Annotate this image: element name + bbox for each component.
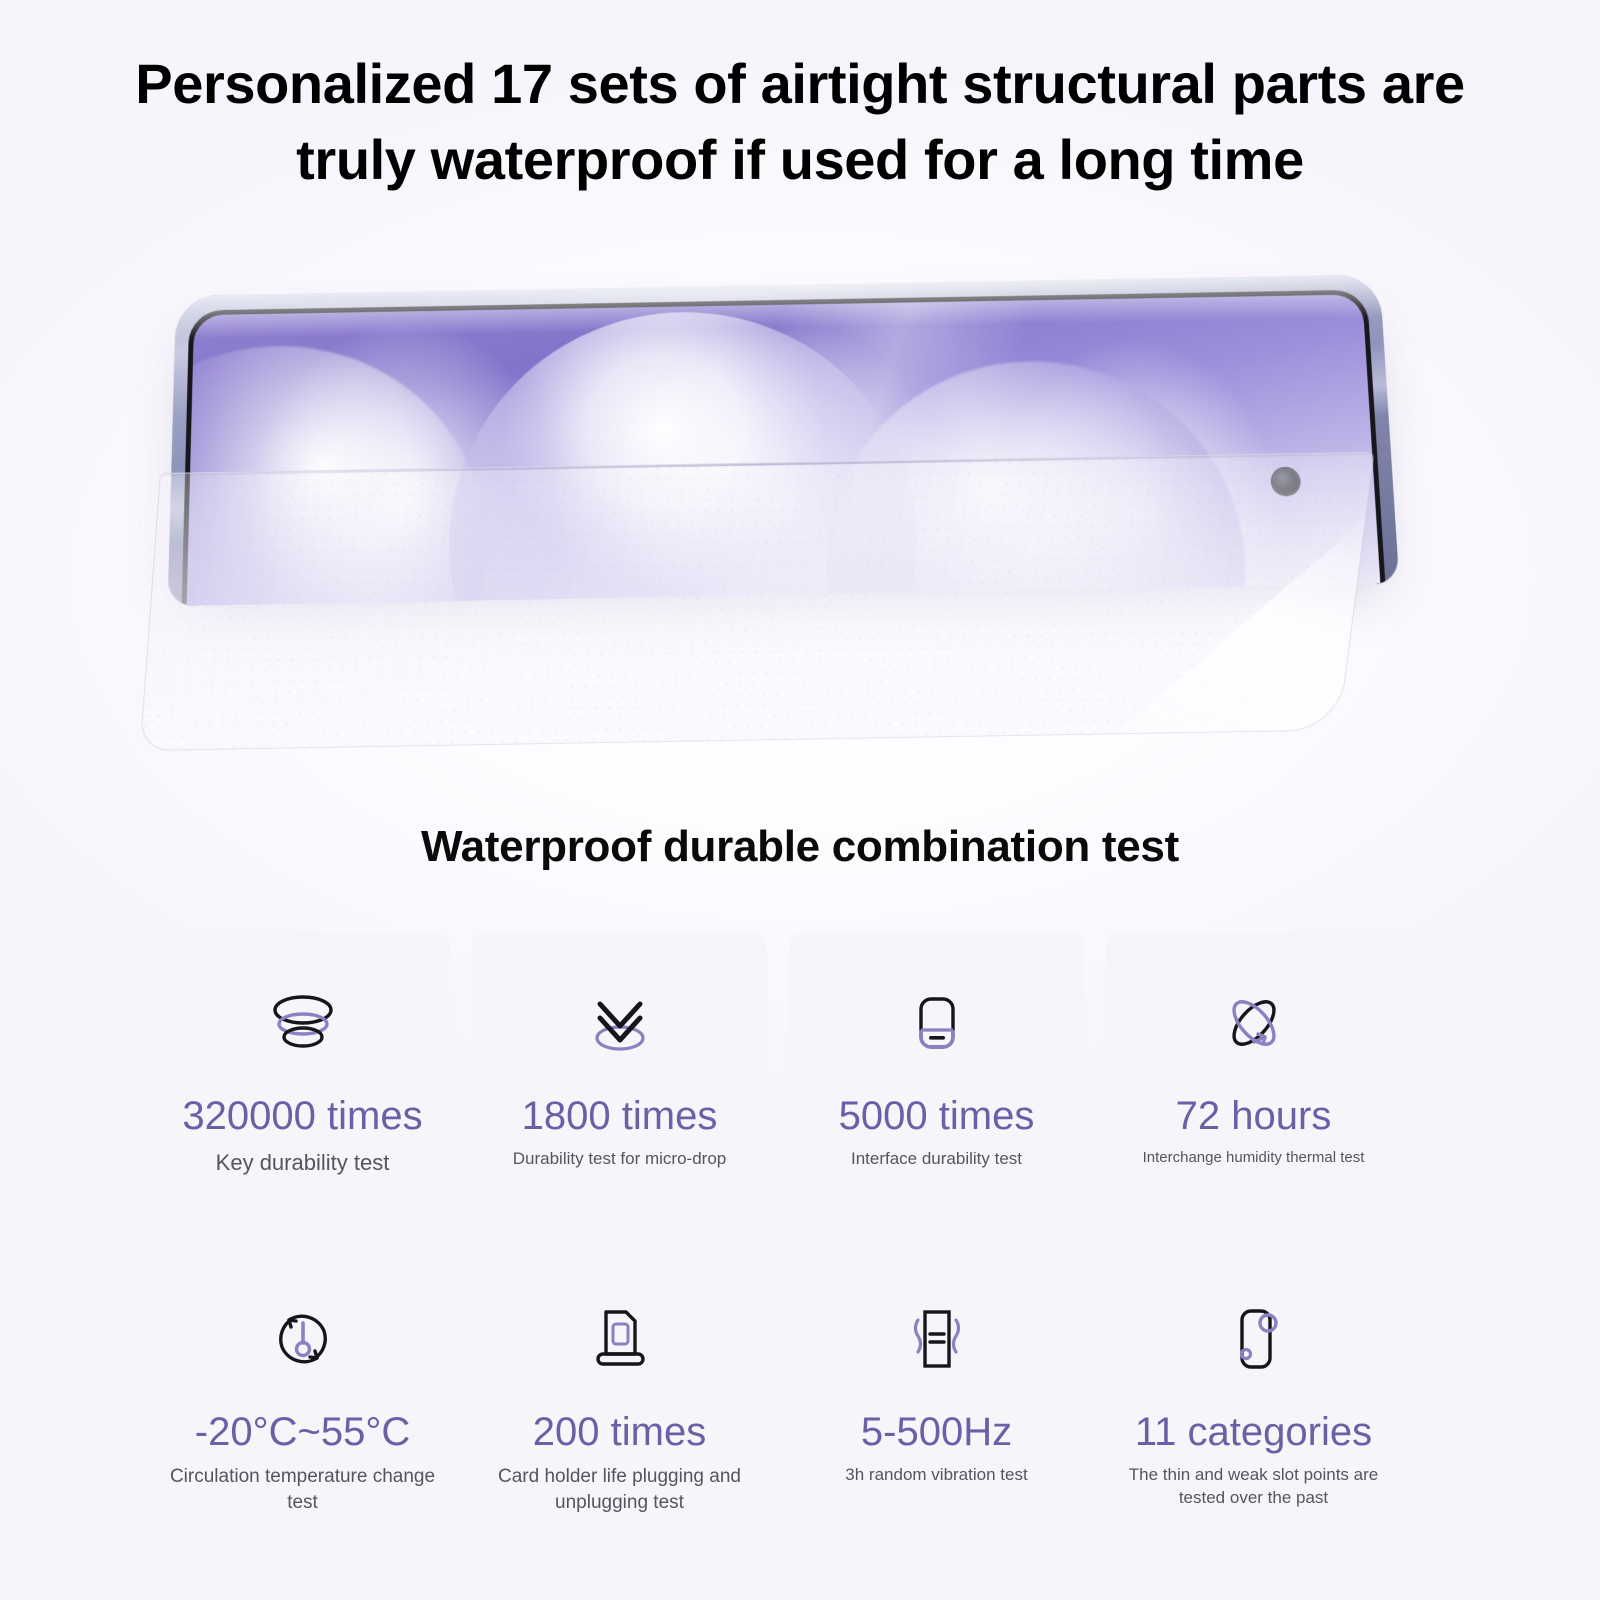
test-spec-grid: 320000 times Key durability test 1800 ti…: [155, 932, 1411, 1544]
spec-value: -20°C~55°C: [195, 1412, 410, 1452]
spec-caption: Card holder life plugging and unplugging…: [480, 1464, 760, 1515]
spec-card-humidity-thermal: 72 hours Interchange humidity thermal te…: [1106, 932, 1401, 1228]
phone-slot-points-icon: [1218, 1304, 1290, 1374]
spec-card-vibration: 5-500Hz 3h random vibration test: [789, 1248, 1084, 1544]
sim-card-tray-icon: [584, 1304, 656, 1374]
stacked-ellipses-key-press-icon: [267, 988, 339, 1058]
page-title-line-1: Personalized 17 sets of airtight structu…: [70, 46, 1530, 122]
spec-caption: Interchange humidity thermal test: [1141, 1148, 1367, 1168]
spec-caption: Key durability test: [214, 1148, 392, 1178]
spec-value: 72 hours: [1176, 1096, 1332, 1136]
spec-caption: 3h random vibration test: [843, 1464, 1029, 1487]
spec-card-card-holder: 200 times Card holder life plugging and …: [472, 1248, 767, 1544]
screen-protector-film: [140, 452, 1375, 751]
spec-value: 200 times: [533, 1412, 706, 1452]
page-title-line-2: truly waterproof if used for a long time: [70, 122, 1530, 198]
double-chevron-drop-icon: [584, 988, 656, 1058]
usb-c-port-icon: [901, 988, 973, 1058]
spec-value: 1800 times: [522, 1096, 718, 1136]
hero-image-inner: [160, 275, 1410, 775]
spec-card-temperature-cycle: -20°C~55°C Circulation temperature chang…: [155, 1248, 450, 1544]
spec-value: 5-500Hz: [861, 1412, 1012, 1452]
spec-caption: Durability test for micro-drop: [511, 1148, 729, 1171]
page-title: Personalized 17 sets of airtight structu…: [70, 0, 1530, 198]
spec-caption: The thin and weak slot points are tested…: [1104, 1464, 1404, 1510]
spec-card-interface-durability: 5000 times Interface durability test: [789, 932, 1084, 1228]
spec-value: 320000 times: [182, 1096, 422, 1136]
thermometer-cycle-icon: [267, 1304, 339, 1374]
phone-vibration-icon: [898, 1304, 976, 1374]
spec-caption: Circulation temperature change test: [163, 1464, 443, 1515]
hero-product-image: [0, 255, 1600, 785]
spec-card-slot-points: 11 categories The thin and weak slot poi…: [1106, 1248, 1401, 1544]
section-heading: Waterproof durable combination test: [0, 822, 1600, 872]
spec-caption: Interface durability test: [849, 1148, 1024, 1171]
orbit-cycle-arrow-icon: [1218, 988, 1290, 1058]
spec-card-micro-drop: 1800 times Durability test for micro-dro…: [472, 932, 767, 1228]
spec-value: 11 categories: [1135, 1412, 1372, 1452]
spec-card-key-durability: 320000 times Key durability test: [155, 932, 450, 1228]
spec-value: 5000 times: [839, 1096, 1035, 1136]
